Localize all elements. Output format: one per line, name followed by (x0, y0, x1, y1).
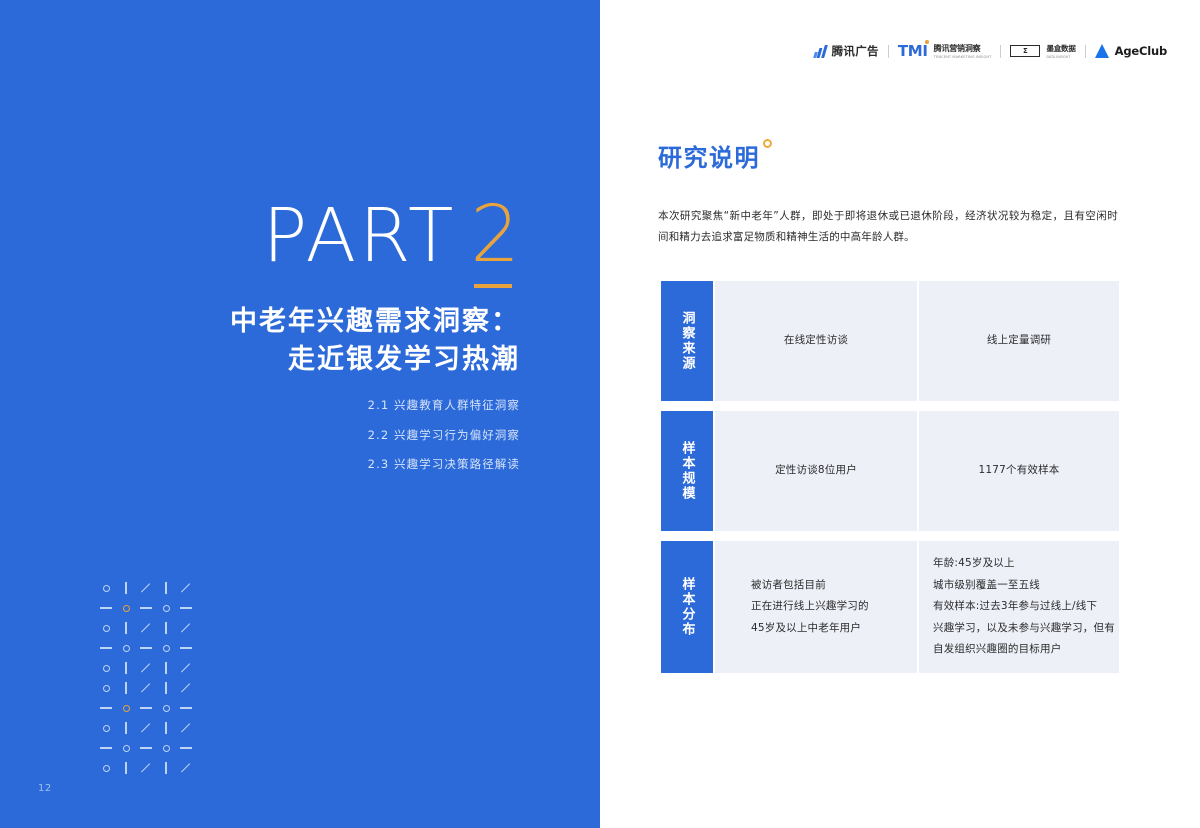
data-lab-logo: Σ 墨盒数据 DATA INSIGHT (1010, 43, 1075, 59)
table-row: 样本规模定性访谈8位用户1177个有效样本 (661, 411, 1119, 531)
pattern-cell-circle (96, 658, 116, 678)
tencent-ads-logo: 腾讯广告 (814, 43, 879, 59)
pattern-cell-bar (156, 678, 176, 698)
pattern-cell-slash (176, 718, 196, 738)
slash-icon (141, 663, 150, 672)
pattern-cell-circle (116, 738, 136, 758)
bar-icon (165, 762, 166, 774)
pattern-cell-dash (136, 738, 156, 758)
dash-icon (100, 647, 112, 648)
pattern-cell-bar (116, 618, 136, 638)
part-number: 2 (470, 190, 520, 280)
bar-icon (125, 722, 126, 734)
pattern-cell-bar (156, 578, 176, 598)
table-cell: 1177个有效样本 (919, 411, 1119, 531)
slash-icon (181, 583, 190, 592)
pattern-cell-dash (96, 738, 116, 758)
pattern-cell-slash (136, 718, 156, 738)
circle-icon (103, 665, 110, 672)
pattern-cell-circle-orange (116, 698, 136, 718)
tmi-logo: TMI 腾讯营销洞察 TENCENT MARKETING INSIGHT (898, 42, 992, 60)
tmi-subtitle: 腾讯营销洞察 TENCENT MARKETING INSIGHT (934, 43, 992, 59)
circle-icon (163, 705, 170, 712)
pattern-cell-slash (136, 658, 156, 678)
dash-icon (140, 707, 152, 708)
pattern-cell-slash (136, 618, 156, 638)
table-cell: 年龄:45岁及以上城市级别覆盖一至五线有效样本:过去3年参与过线上/线下兴趣学习… (919, 541, 1119, 673)
part-number-group: 2 (470, 196, 520, 274)
research-note-heading-text: 研究说明 (658, 138, 760, 173)
slash-icon (181, 663, 190, 672)
dash-icon (180, 707, 192, 708)
pattern-cell-circle (96, 578, 116, 598)
pattern-cell-slash (176, 578, 196, 598)
pattern-cell-bar (156, 658, 176, 678)
cell-line: 线上定量调研 (987, 330, 1051, 352)
slide-page: PART2 中老年兴趣需求洞察： 走近银发学习热潮 2.1 兴趣教育人群特征洞察… (0, 0, 1200, 828)
tencent-ads-label: 腾讯广告 (832, 43, 879, 59)
decorative-dot-pattern (96, 578, 196, 778)
dash-icon (140, 747, 152, 748)
pattern-cell-dash (176, 638, 196, 658)
table-cell: 线上定量调研 (919, 281, 1119, 401)
pattern-cell-circle (96, 758, 116, 778)
cell-line: 1177个有效样本 (978, 460, 1059, 482)
section-title-line1: 中老年兴趣需求洞察： (0, 303, 520, 341)
left-title-panel: PART2 中老年兴趣需求洞察： 走近银发学习热潮 2.1 兴趣教育人群特征洞察… (0, 0, 600, 828)
pattern-cell-bar (156, 758, 176, 778)
tmi-mark: TMI (898, 42, 928, 60)
circle-icon (103, 625, 110, 632)
pattern-cell-dash (136, 598, 156, 618)
dash-icon (100, 747, 112, 748)
pattern-cell-circle (96, 678, 116, 698)
cell-line: 45岁及以上中老年用户 (751, 618, 869, 640)
part-underline-rule (474, 284, 512, 288)
slash-icon (181, 763, 190, 772)
circle-orange-icon (123, 705, 130, 712)
pattern-cell-bar (116, 718, 136, 738)
data-lab-subtitle: 墨盒数据 DATA INSIGHT (1046, 43, 1075, 59)
ageclub-logo: AgeClub (1095, 44, 1167, 58)
row-label: 洞察来源 (661, 281, 713, 401)
circle-icon (123, 645, 130, 652)
bar-icon (165, 722, 166, 734)
circle-accent-icon (763, 139, 772, 148)
table-of-contents: 2.1 兴趣教育人群特征洞察 2.2 兴趣学习行为偏好洞察 2.3 兴趣学习决策… (0, 400, 520, 489)
dash-icon (180, 607, 192, 608)
pattern-cell-dash (96, 698, 116, 718)
pattern-cell-circle (96, 618, 116, 638)
logo-divider (1085, 45, 1086, 58)
table-cell: 被访者包括目前正在进行线上兴趣学习的45岁及以上中老年用户 (715, 541, 917, 673)
section-title: 中老年兴趣需求洞察： 走近银发学习热潮 (0, 303, 520, 380)
pattern-cell-bar (156, 618, 176, 638)
table-cell: 在线定性访谈 (715, 281, 917, 401)
slash-icon (181, 623, 190, 632)
slash-icon (181, 683, 190, 692)
pattern-cell-circle (96, 718, 116, 738)
pattern-cell-slash (176, 758, 196, 778)
bar-icon (125, 622, 126, 634)
intro-paragraph: 本次研究聚焦“新中老年”人群，即处于即将退休或已退休阶段，经济状况较为稳定，且有… (658, 206, 1118, 248)
circle-icon (103, 585, 110, 592)
table-row: 洞察来源在线定性访谈线上定量调研 (661, 281, 1119, 401)
right-content-panel: 腾讯广告 TMI 腾讯营销洞察 TENCENT MARKETING INSIGH… (600, 0, 1200, 828)
cell-line: 兴趣学习，以及未参与兴趣学习，但有 (933, 618, 1115, 640)
circle-icon (123, 745, 130, 752)
data-lab-label-cn: 墨盒数据 (1046, 43, 1075, 54)
dash-icon (140, 607, 152, 608)
pattern-cell-slash (136, 578, 156, 598)
dash-icon (100, 607, 112, 608)
cell-line: 正在进行线上兴趣学习的 (751, 596, 869, 618)
bar-icon (125, 662, 126, 674)
bar-icon (165, 662, 166, 674)
pattern-cell-dash (176, 738, 196, 758)
cell-line: 有效样本:过去3年参与过线上/线下 (933, 596, 1115, 618)
cell-line: 定性访谈8位用户 (775, 460, 857, 482)
row-label: 样本规模 (661, 411, 713, 531)
research-info-table: 洞察来源在线定性访谈线上定量调研样本规模定性访谈8位用户1177个有效样本样本分… (661, 281, 1119, 683)
pattern-cell-circle-orange (116, 598, 136, 618)
table-row: 样本分布被访者包括目前正在进行线上兴趣学习的45岁及以上中老年用户年龄:45岁及… (661, 541, 1119, 673)
pattern-cell-slash (136, 758, 156, 778)
tmi-label-cn: 腾讯营销洞察 (934, 43, 992, 54)
bar-icon (165, 622, 166, 634)
pattern-cell-dash (176, 698, 196, 718)
pattern-cell-circle (156, 598, 176, 618)
circle-icon (163, 605, 170, 612)
slash-icon (141, 583, 150, 592)
slash-icon (141, 623, 150, 632)
slash-icon (141, 763, 150, 772)
pattern-cell-dash (96, 598, 116, 618)
cell-line: 在线定性访谈 (784, 330, 848, 352)
pattern-cell-bar (156, 718, 176, 738)
pattern-cell-dash (136, 698, 156, 718)
dash-icon (100, 707, 112, 708)
dash-icon (180, 647, 192, 648)
circle-icon (103, 685, 110, 692)
pattern-cell-circle (156, 738, 176, 758)
logo-divider (888, 45, 889, 58)
cell-line: 年龄:45岁及以上 (933, 553, 1115, 575)
pattern-cell-bar (116, 678, 136, 698)
pattern-cell-dash (136, 638, 156, 658)
dash-icon (180, 747, 192, 748)
pattern-cell-bar (116, 658, 136, 678)
cell-line: 被访者包括目前 (751, 575, 869, 597)
tencent-bars-icon (814, 45, 826, 58)
data-lab-label-en: DATA INSIGHT (1046, 55, 1075, 59)
circle-icon (103, 765, 110, 772)
logo-divider (1000, 45, 1001, 58)
data-lab-mark-icon: Σ (1010, 45, 1040, 57)
pattern-cell-slash (176, 658, 196, 678)
dash-icon (140, 647, 152, 648)
bar-icon (165, 582, 166, 594)
cell-line: 城市级别覆盖一至五线 (933, 575, 1115, 597)
research-note-heading: 研究说明 (658, 138, 772, 173)
toc-item-2-1[interactable]: 2.1 兴趣教育人群特征洞察 (0, 400, 520, 412)
pattern-cell-dash (176, 598, 196, 618)
slash-icon (141, 723, 150, 732)
bar-icon (125, 582, 126, 594)
circle-icon (103, 725, 110, 732)
pattern-cell-circle (116, 638, 136, 658)
cell-line: 自发组织兴趣圈的目标用户 (933, 639, 1115, 661)
pattern-cell-bar (116, 758, 136, 778)
pattern-cell-slash (176, 678, 196, 698)
bar-icon (165, 682, 166, 694)
circle-icon (163, 645, 170, 652)
pattern-cell-circle (156, 638, 176, 658)
part-word: PART (263, 193, 457, 279)
ageclub-label: AgeClub (1115, 44, 1167, 58)
pattern-cell-slash (136, 678, 156, 698)
pattern-cell-circle (156, 698, 176, 718)
pattern-cell-dash (96, 638, 116, 658)
section-title-line2: 走近银发学习热潮 (0, 341, 520, 379)
slash-icon (181, 723, 190, 732)
pattern-cell-bar (116, 578, 136, 598)
row-label: 样本分布 (661, 541, 713, 673)
tmi-label-en: TENCENT MARKETING INSIGHT (934, 55, 992, 59)
bar-icon (125, 682, 126, 694)
toc-item-2-3[interactable]: 2.3 兴趣学习决策路径解读 (0, 459, 520, 471)
circle-icon (163, 745, 170, 752)
part-heading: PART2 (0, 193, 520, 279)
slash-icon (141, 683, 150, 692)
table-cell: 定性访谈8位用户 (715, 411, 917, 531)
triangle-a-icon (1095, 44, 1109, 58)
tmi-dot-icon (925, 40, 929, 44)
page-number: 12 (38, 783, 52, 794)
logo-bar: 腾讯广告 TMI 腾讯营销洞察 TENCENT MARKETING INSIGH… (814, 38, 1167, 64)
circle-orange-icon (123, 605, 130, 612)
bar-icon (125, 762, 126, 774)
toc-item-2-2[interactable]: 2.2 兴趣学习行为偏好洞察 (0, 430, 520, 442)
pattern-cell-slash (176, 618, 196, 638)
